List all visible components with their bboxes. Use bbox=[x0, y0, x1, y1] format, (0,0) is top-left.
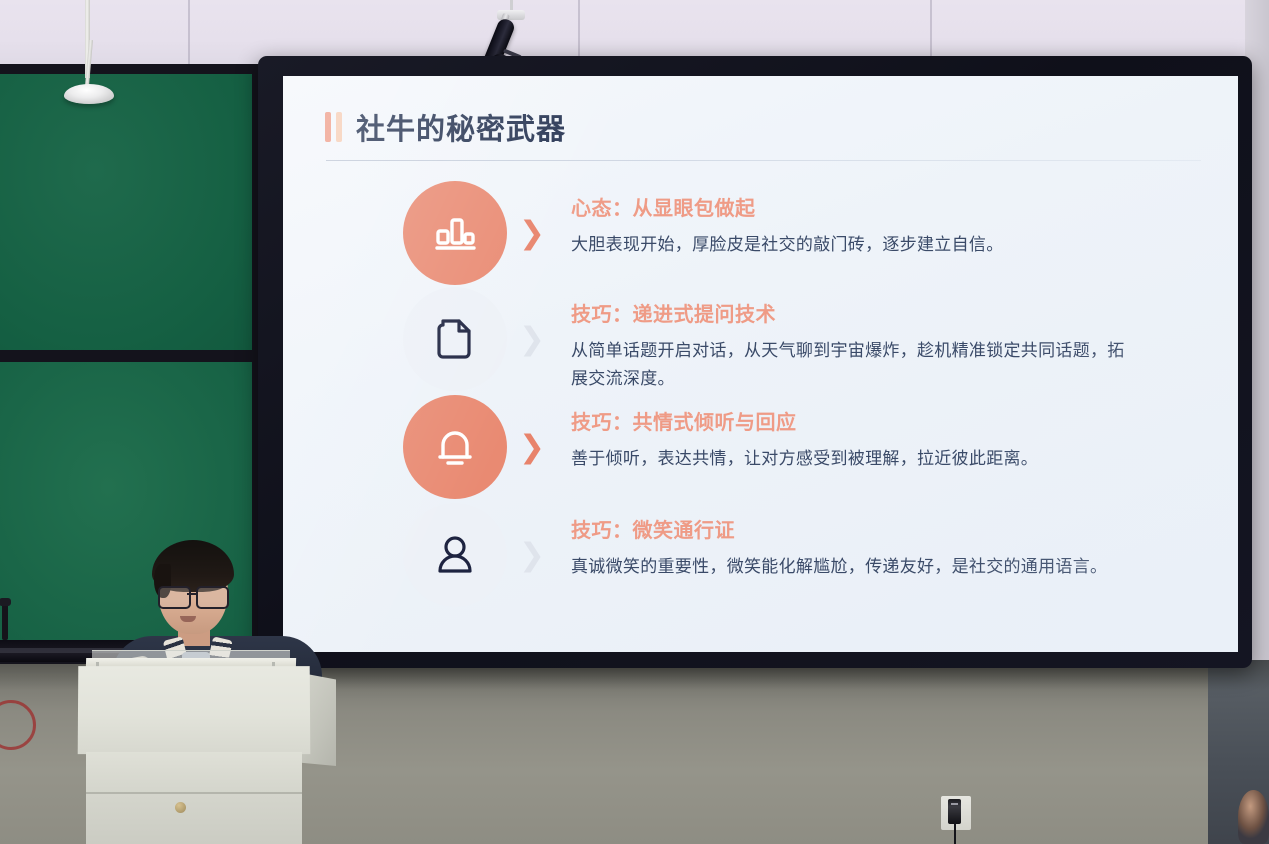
icon-circle bbox=[403, 503, 507, 607]
bar-chart-icon bbox=[432, 213, 478, 253]
chevron-right-icon: ❯ bbox=[515, 286, 549, 392]
podium-body bbox=[78, 666, 311, 754]
chalkboard-clip bbox=[2, 604, 8, 640]
bell-icon bbox=[432, 424, 478, 470]
slide-items-list: ❯ 心态：从显眼包做起 大胆表现开始，厚脸皮是社交的敲门砖，逐步建立自信。 bbox=[283, 180, 1238, 610]
accent-bar-2 bbox=[336, 112, 342, 142]
icon-circle bbox=[403, 395, 507, 499]
socket-cord bbox=[954, 822, 956, 844]
list-item[interactable]: ❯ 技巧：共情式倾听与回应 善于倾听，表达共情，让对方感受到被理解，拉近彼此距离… bbox=[283, 394, 1238, 502]
item-heading: 技巧：共情式倾听与回应 bbox=[571, 406, 1038, 435]
wall-seam bbox=[188, 0, 190, 72]
glasses-bridge bbox=[187, 593, 196, 595]
presentation-screen[interactable]: 社牛的秘密武器 bbox=[283, 76, 1238, 652]
slide-title: 社牛的秘密武器 bbox=[356, 106, 566, 148]
chevron-right-icon: ❯ bbox=[515, 394, 549, 500]
glasses-lens-left bbox=[158, 586, 191, 609]
podium-lock-icon[interactable] bbox=[175, 802, 186, 813]
title-divider bbox=[326, 160, 1201, 161]
list-item[interactable]: ❯ 技巧：递进式提问技术 从简单话题开启对话，从天气聊到宇宙爆炸，趁机精准锁定共… bbox=[283, 286, 1238, 394]
slide-title-row: 社牛的秘密武器 bbox=[325, 106, 566, 148]
document-icon bbox=[434, 316, 476, 362]
classroom-scene: 社牛的秘密武器 bbox=[0, 0, 1269, 844]
item-icon-wrap bbox=[401, 286, 509, 392]
podium-base-seam bbox=[86, 792, 302, 794]
item-body: 大胆表现开始，厚脸皮是社交的敲门砖，逐步建立自信。 bbox=[571, 232, 1004, 260]
item-texts: 技巧：微笑通行证 真诚微笑的重要性，微笑能化解尴尬，传递友好，是社交的通用语言。 bbox=[571, 502, 1107, 582]
item-body: 从简单话题开启对话，从天气聊到宇宙爆炸，趁机精准锁定共同话题，拓展交流深度。 bbox=[571, 338, 1141, 393]
item-heading: 技巧：递进式提问技术 bbox=[571, 298, 1141, 327]
presenter-hair bbox=[152, 540, 234, 592]
accent-bar-1 bbox=[325, 112, 331, 142]
list-item[interactable]: ❯ 技巧：微笑通行证 真诚微笑的重要性，微笑能化解尴尬，传递友好，是社交的通用语… bbox=[283, 502, 1238, 610]
slide: 社牛的秘密武器 bbox=[283, 76, 1238, 652]
glasses-lens-right bbox=[196, 586, 229, 609]
list-item[interactable]: ❯ 心态：从显眼包做起 大胆表现开始，厚脸皮是社交的敲门砖，逐步建立自信。 bbox=[283, 180, 1238, 286]
audience-member bbox=[1238, 790, 1269, 844]
glasses-icon bbox=[158, 586, 230, 606]
chevron-right-icon: ❯ bbox=[515, 180, 549, 286]
item-body: 真诚微笑的重要性，微笑能化解尴尬，传递友好，是社交的通用语言。 bbox=[571, 554, 1107, 582]
chevron-right-icon: ❯ bbox=[515, 502, 549, 608]
ceiling-lamp-icon bbox=[64, 84, 114, 104]
icon-circle bbox=[403, 287, 507, 391]
item-heading: 心态：从显眼包做起 bbox=[571, 192, 1004, 221]
socket-indicator bbox=[951, 803, 958, 805]
item-texts: 技巧：共情式倾听与回应 善于倾听，表达共情，让对方感受到被理解，拉近彼此距离。 bbox=[571, 394, 1038, 474]
item-body: 善于倾听，表达共情，让对方感受到被理解，拉近彼此距离。 bbox=[571, 446, 1038, 474]
podium-base bbox=[86, 752, 302, 844]
item-texts: 技巧：递进式提问技术 从简单话题开启对话，从天气聊到宇宙爆炸，趁机精准锁定共同话… bbox=[571, 286, 1141, 393]
item-icon-wrap bbox=[401, 502, 509, 608]
item-texts: 心态：从显眼包做起 大胆表现开始，厚脸皮是社交的敲门砖，逐步建立自信。 bbox=[571, 180, 1004, 260]
title-accent-bars bbox=[325, 112, 342, 142]
item-icon-wrap bbox=[401, 180, 509, 286]
chalkboard-upper-panel bbox=[0, 74, 252, 350]
icon-circle bbox=[403, 181, 507, 285]
item-icon-wrap bbox=[401, 394, 509, 500]
user-icon bbox=[433, 533, 477, 577]
item-heading: 技巧：微笑通行证 bbox=[571, 514, 1107, 543]
